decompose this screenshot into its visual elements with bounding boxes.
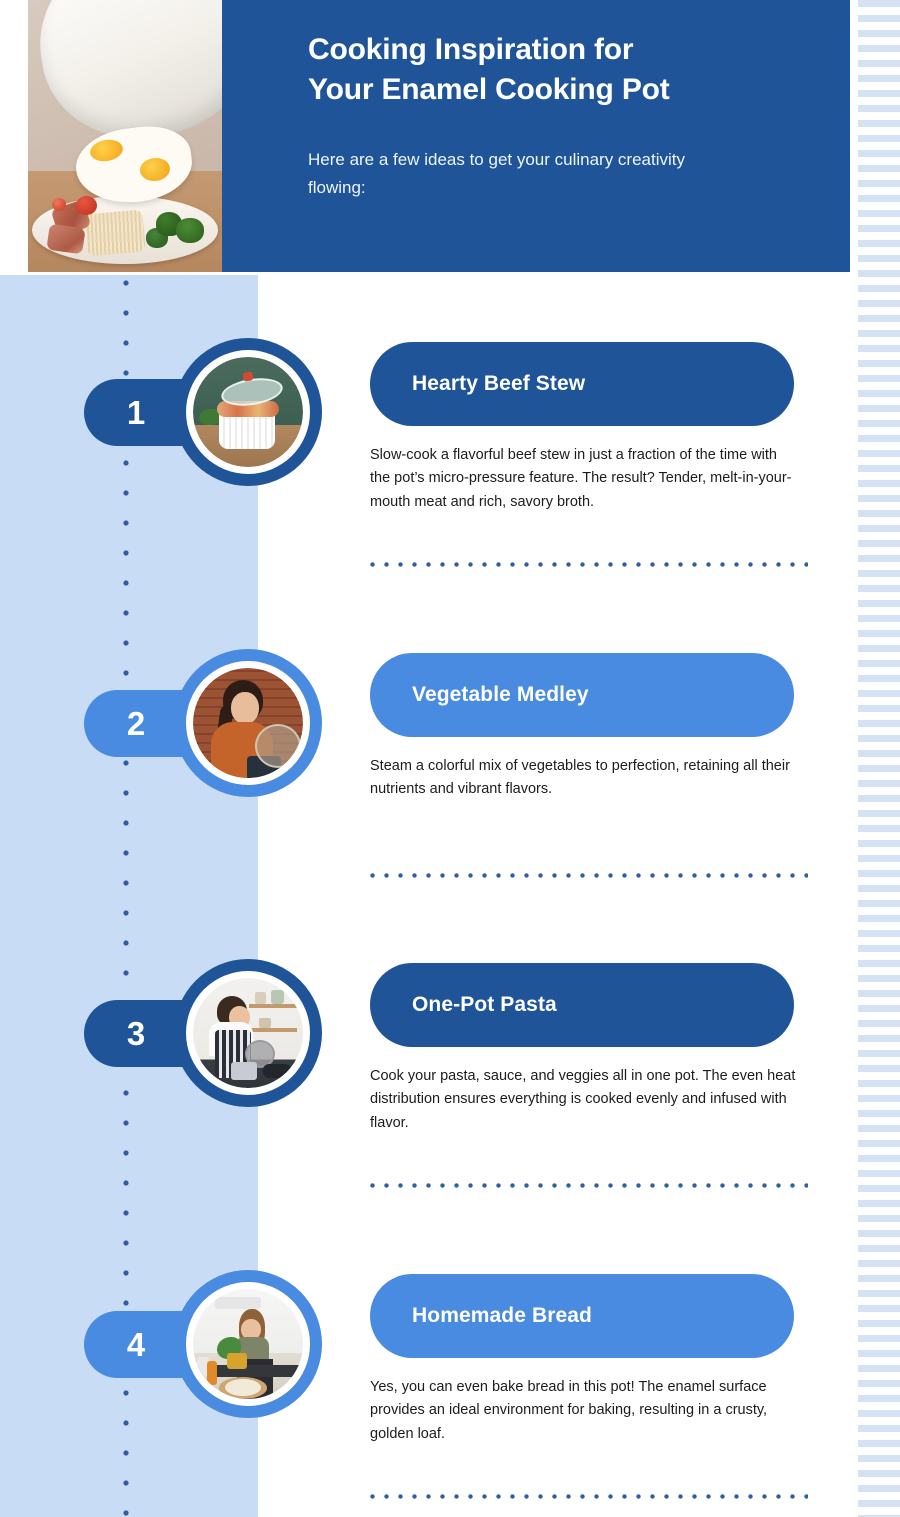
step-separator-2	[370, 873, 808, 878]
hero-photo	[28, 0, 222, 272]
woman-apron-photo-pot	[231, 1062, 257, 1080]
step-photo-2	[193, 668, 303, 778]
hero-photo-cherry-tomato	[76, 196, 97, 215]
step-title-1: Hearty Beef Stew	[412, 342, 774, 426]
step-photo-3-image	[193, 978, 303, 1088]
step-separator-1	[370, 562, 808, 567]
woman-apron-photo-jar-3	[259, 1018, 271, 1028]
woman-apron-photo-jar-2	[271, 990, 284, 1004]
infographic-page: Cooking Inspiration for Your Enamel Cook…	[0, 0, 900, 1517]
step-title-card-4[interactable]: Homemade Bread	[370, 1274, 794, 1358]
step-photo-2-image	[193, 668, 303, 778]
step-photo-3	[193, 978, 303, 1088]
pot-photo-lid-knob	[242, 371, 253, 381]
step-photo-1-image	[193, 357, 303, 467]
hero-photo-bacon-roll-bottom	[46, 224, 85, 255]
step-description-1: Slow-cook a flavorful beef stew in just …	[370, 444, 796, 514]
hero-photo-enoki-mushrooms	[84, 210, 145, 257]
step-photo-1	[193, 357, 303, 467]
step-title-3: One-Pot Pasta	[412, 963, 774, 1047]
step-title-2: Vegetable Medley	[412, 653, 774, 737]
page-title: Cooking Inspiration for Your Enamel Cook…	[308, 30, 808, 109]
woman-baking-photo-bottle	[207, 1361, 217, 1385]
header-panel: Cooking Inspiration for Your Enamel Cook…	[222, 0, 850, 272]
woman-apron-photo-skillet	[263, 1064, 291, 1078]
page-title-line-1: Cooking Inspiration for	[308, 33, 633, 66]
woman-baking-photo-pot	[227, 1353, 247, 1369]
woman-baking-photo-range-hood	[215, 1297, 261, 1309]
step-description-3: Cook your pasta, sauce, and veggies all …	[370, 1065, 796, 1135]
step-separator-4	[370, 1494, 808, 1499]
step-photo-4	[193, 1289, 303, 1399]
step-title-4: Homemade Bread	[412, 1274, 774, 1358]
hero-photo-tomato-small	[52, 198, 66, 211]
step-description-2: Steam a colorful mix of vegetables to pe…	[370, 755, 796, 802]
step-number-4: 4	[106, 1311, 166, 1378]
woman-apron-photo-shelf-lower	[249, 1028, 297, 1032]
step-separator-3	[370, 1183, 808, 1188]
step-photo-ring-2	[174, 649, 322, 797]
step-photo-ring-3	[174, 959, 322, 1107]
woman-apron-photo-jar-1	[255, 992, 266, 1004]
step-title-card-2[interactable]: Vegetable Medley	[370, 653, 794, 737]
woman-baking-photo-dough	[225, 1379, 261, 1396]
woman-apron-photo-shelf-upper	[249, 1004, 299, 1008]
step-description-4: Yes, you can even bake bread in this pot…	[370, 1376, 796, 1446]
hero-photo-broccoli-b	[176, 218, 204, 243]
step-title-card-3[interactable]: One-Pot Pasta	[370, 963, 794, 1047]
step-number-3: 3	[106, 1000, 166, 1067]
step-photo-4-image	[193, 1289, 303, 1399]
step-photo-ring-4	[174, 1270, 322, 1418]
woman-orange-photo-face	[231, 692, 259, 724]
stripe-band-decoration	[858, 0, 900, 1517]
step-number-1: 1	[106, 379, 166, 446]
woman-orange-photo-lid	[255, 724, 301, 768]
step-photo-ring-1	[174, 338, 322, 486]
step-number-2: 2	[106, 690, 166, 757]
page-subtitle: Here are a few ideas to get your culinar…	[308, 146, 738, 201]
page-title-line-2: Your Enamel Cooking Pot	[308, 73, 670, 106]
step-title-card-1[interactable]: Hearty Beef Stew	[370, 342, 794, 426]
